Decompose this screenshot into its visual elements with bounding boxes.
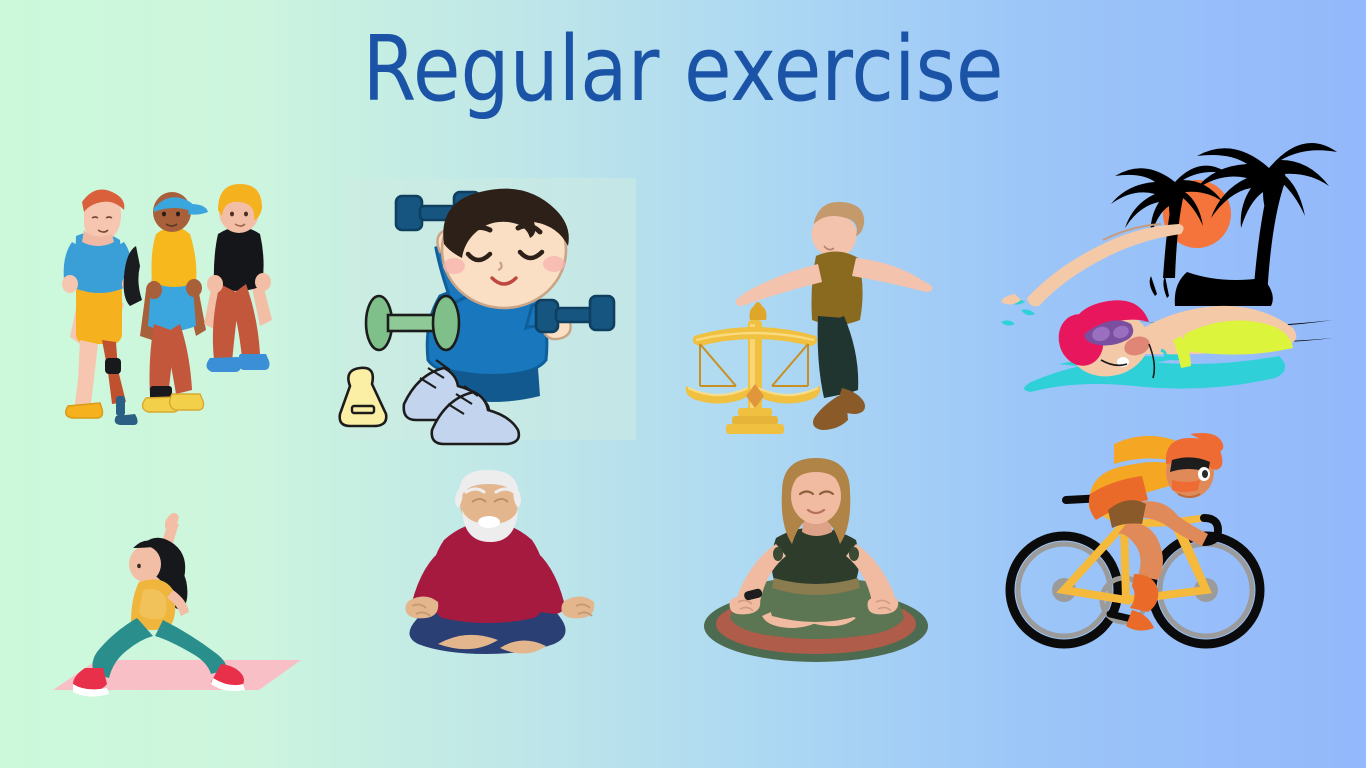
illustration-meditating-man (400, 468, 620, 680)
yoga-warrior-graphic (45, 478, 325, 714)
handlebar (1204, 518, 1218, 542)
meditating-woman-graphic (696, 458, 936, 670)
golden-balance-scale-icon (686, 302, 821, 434)
runner-woman-right (204, 184, 272, 372)
illustration-meditating-woman (696, 458, 936, 670)
illustration-yoga-warrior (45, 478, 325, 714)
cyclist-graphic (1008, 424, 1268, 656)
illustration-running-group (50, 172, 300, 422)
balance-scale-graphic (690, 190, 930, 440)
runner-woman-center (124, 192, 208, 412)
illustration-cyclist (1008, 424, 1268, 656)
dumbbell-boy-graphic (336, 178, 636, 440)
illustration-dumbbell-boy (336, 178, 636, 440)
poster-canvas: Regular exercise (0, 0, 1366, 768)
illustration-swimmer (985, 82, 1325, 402)
running-group-graphic (50, 172, 300, 422)
illustration-balance-scale (690, 190, 930, 440)
swimmer-graphic (985, 82, 1325, 402)
meditating-man-graphic (400, 468, 620, 680)
runner-man (62, 190, 138, 426)
